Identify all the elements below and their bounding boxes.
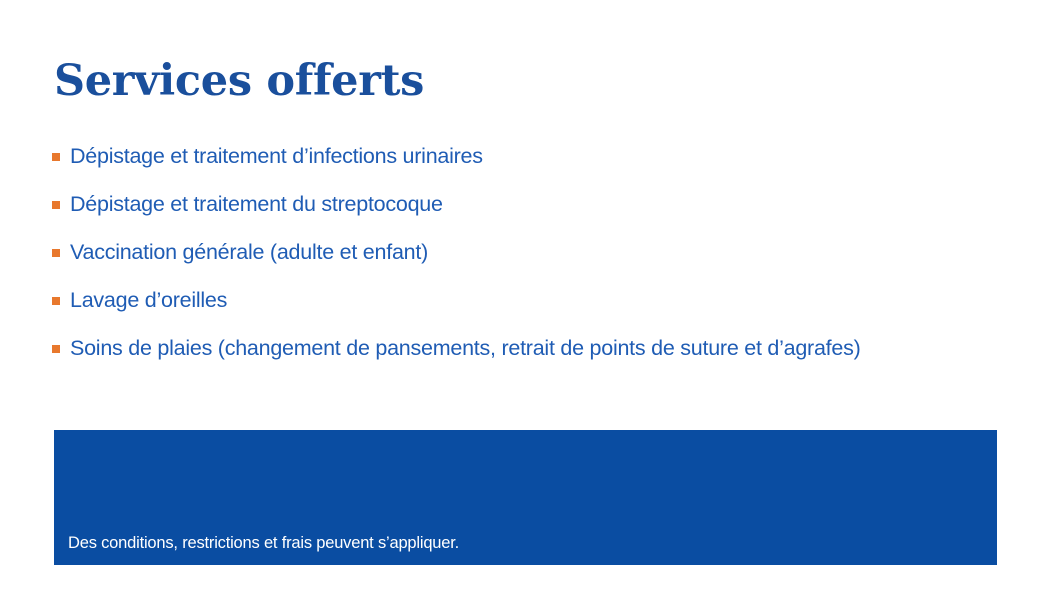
list-item: Soins de plaies (changement de pansement… [52, 334, 1020, 382]
footer-disclaimer-text: Des conditions, restrictions et frais pe… [68, 532, 459, 554]
list-item-label: Dépistage et traitement du streptocoque [70, 190, 1020, 218]
list-item-label: Lavage d’oreilles [70, 286, 1020, 314]
square-bullet-icon [52, 201, 60, 209]
list-item: Lavage d’oreilles [52, 286, 1020, 334]
list-item: Dépistage et traitement du streptocoque [52, 190, 1020, 238]
services-list: Dépistage et traitement d’infections uri… [52, 142, 1020, 382]
footer-banner: Des conditions, restrictions et frais pe… [54, 430, 997, 565]
square-bullet-icon [52, 153, 60, 161]
list-item-label: Vaccination générale (adulte et enfant) [70, 238, 1020, 266]
list-item-label: Dépistage et traitement d’infections uri… [70, 142, 1020, 170]
presentation-slide: Services offerts Dépistage et traitement… [0, 0, 1050, 600]
list-item: Dépistage et traitement d’infections uri… [52, 142, 1020, 190]
page-title: Services offerts [54, 57, 424, 106]
list-item-label: Soins de plaies (changement de pansement… [70, 334, 1020, 362]
list-item: Vaccination générale (adulte et enfant) [52, 238, 1020, 286]
square-bullet-icon [52, 345, 60, 353]
square-bullet-icon [52, 249, 60, 257]
square-bullet-icon [52, 297, 60, 305]
